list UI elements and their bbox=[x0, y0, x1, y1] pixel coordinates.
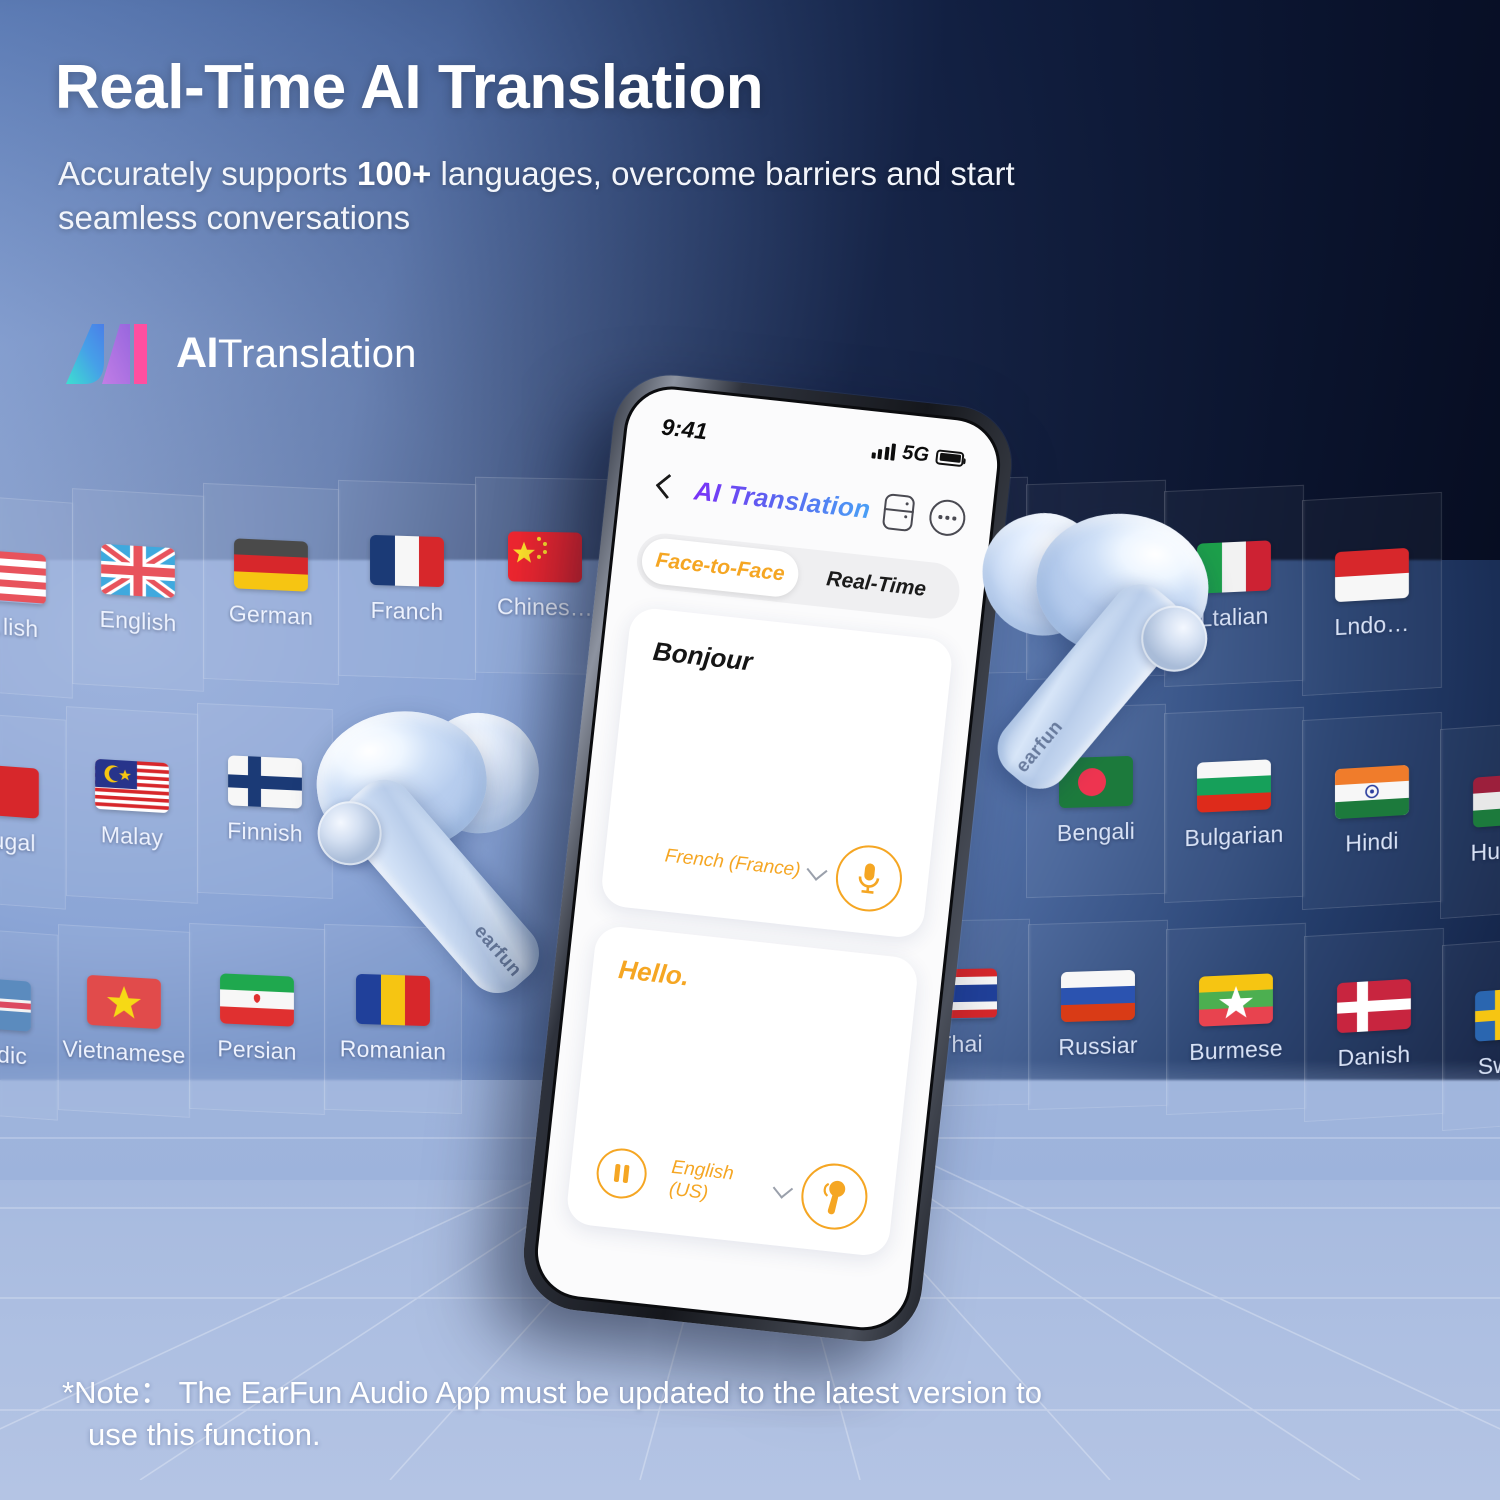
battery-full-icon bbox=[935, 449, 964, 467]
flag-tile: Burmese bbox=[1166, 923, 1306, 1115]
flag-tile: …ndic bbox=[0, 925, 58, 1120]
flag-label: Malay bbox=[101, 821, 163, 852]
translation-card-source: Bonjour French (France) bbox=[600, 606, 955, 939]
flag-label: Hindi bbox=[1345, 827, 1398, 857]
target-card-controls: English (US) bbox=[593, 1138, 871, 1233]
flag-tile: Vietnamese bbox=[58, 924, 190, 1118]
ai-translation-logo: AI Translation bbox=[64, 322, 417, 384]
chevron-down-icon bbox=[773, 1178, 793, 1198]
right-earbud-brand: earfun bbox=[1012, 716, 1068, 777]
flag-tile: Danish bbox=[1304, 928, 1444, 1122]
flag-tile: German bbox=[203, 483, 339, 685]
flag-tile: English bbox=[72, 488, 204, 692]
right-earbud: earfun bbox=[924, 490, 1256, 840]
flag-tile: Malay bbox=[66, 706, 198, 904]
ai-logo-text: AI Translation bbox=[176, 329, 417, 378]
flag-tile: Persian bbox=[189, 923, 325, 1115]
flag-label: Vietnamese bbox=[62, 1035, 185, 1069]
phone-frame: 9:41 5G AI Translation bbox=[518, 370, 1017, 1348]
flag-fr bbox=[370, 534, 444, 586]
target-language-selector[interactable]: English (US) bbox=[668, 1157, 792, 1214]
network-type-label: 5G bbox=[901, 441, 930, 467]
flag-tile: Hindi bbox=[1302, 712, 1442, 910]
flag-label: Burmese bbox=[1189, 1034, 1282, 1065]
flag-label: Franch bbox=[371, 596, 444, 625]
flag-label: Russiar bbox=[1058, 1031, 1137, 1060]
flag-label: …lish bbox=[0, 611, 38, 642]
flag-ir bbox=[220, 973, 294, 1026]
earbud-playback-button[interactable] bbox=[798, 1160, 871, 1233]
earbuds-case-icon[interactable] bbox=[882, 493, 916, 532]
footnote-line-2: use this function. bbox=[62, 1414, 1352, 1456]
flag-tile: …lish bbox=[0, 493, 73, 698]
flag-label: Lndo… bbox=[1334, 609, 1409, 640]
subtitle-before: Accurately supports bbox=[58, 155, 357, 192]
flag-mm bbox=[1199, 973, 1273, 1026]
pause-icon bbox=[614, 1164, 630, 1183]
flag-my bbox=[95, 758, 169, 812]
target-phrase: Hello. bbox=[617, 953, 891, 1016]
status-indicators: 5G bbox=[871, 438, 965, 471]
ai-logo-mark-icon bbox=[64, 322, 156, 384]
flag-tile: Swe… bbox=[1442, 935, 1500, 1131]
spacer bbox=[631, 853, 653, 855]
flag-label: …ugal bbox=[0, 825, 36, 857]
ai-logo-ai-text: AI bbox=[176, 329, 218, 378]
promo-banner: …lish English bbox=[0, 0, 1500, 1500]
flag-dk bbox=[1337, 978, 1411, 1032]
footnote: *Note： The EarFun Audio App must be upda… bbox=[62, 1372, 1352, 1455]
flag-label: English bbox=[100, 605, 177, 637]
flag-tile: Russiar bbox=[1028, 920, 1168, 1110]
flag-de bbox=[234, 538, 308, 591]
flag-in bbox=[1335, 764, 1409, 818]
page-subtitle: Accurately supports 100+ languages, over… bbox=[58, 152, 1148, 239]
microphone-icon bbox=[854, 860, 884, 897]
flag-hu bbox=[1473, 772, 1500, 827]
flag-label: Finnish bbox=[227, 817, 303, 847]
flag-label: German bbox=[229, 600, 313, 631]
signal-bars-icon bbox=[871, 441, 896, 460]
translation-card-target: Hello. English (US) bbox=[565, 924, 920, 1257]
earbud-icon bbox=[818, 1177, 852, 1216]
footnote-line-1: *Note： The EarFun Audio App must be upda… bbox=[62, 1375, 1042, 1410]
phone-screen: 9:41 5G AI Translation bbox=[533, 385, 1001, 1332]
flag-label: Persian bbox=[217, 1035, 296, 1066]
ai-logo-translation-text: Translation bbox=[218, 332, 417, 377]
flag-us bbox=[0, 549, 46, 604]
flag-uk bbox=[101, 543, 175, 597]
chevron-down-icon bbox=[806, 860, 827, 881]
microphone-button[interactable] bbox=[833, 842, 906, 915]
flag-tile: …ugal bbox=[0, 710, 66, 909]
flag-se bbox=[1475, 986, 1500, 1041]
flag-vn bbox=[87, 974, 161, 1028]
flag-label: Danish bbox=[1338, 1040, 1411, 1071]
flag-tile: Hung… bbox=[1440, 719, 1500, 919]
back-chevron-icon[interactable] bbox=[645, 468, 682, 505]
flag-label: …ndic bbox=[0, 1038, 27, 1070]
flag-label: Hung… bbox=[1471, 834, 1500, 867]
target-language-label: English (US) bbox=[668, 1157, 769, 1211]
source-card-controls: French (France) bbox=[628, 820, 906, 915]
flag-tile: Lndo… bbox=[1302, 492, 1442, 696]
flag-tile: Franch bbox=[338, 480, 476, 680]
flag-ru bbox=[1061, 969, 1135, 1021]
source-language-label: French (France) bbox=[664, 845, 802, 882]
status-time: 9:41 bbox=[660, 413, 709, 445]
flag-pt bbox=[0, 763, 39, 818]
flag-is bbox=[0, 976, 31, 1031]
source-language-selector[interactable]: French (France) bbox=[664, 845, 826, 884]
translation-cards: Bonjour French (France) bbox=[533, 584, 980, 1332]
subtitle-highlight: 100+ bbox=[357, 155, 431, 192]
pause-button[interactable] bbox=[594, 1146, 649, 1201]
app-title: AI Translation bbox=[689, 475, 875, 526]
page-title: Real-Time AI Translation bbox=[55, 52, 1205, 123]
flag-id bbox=[1335, 547, 1409, 601]
phone-bezel: 9:41 5G AI Translation bbox=[530, 382, 1005, 1335]
source-phrase: Bonjour bbox=[651, 635, 925, 698]
flag-label: Swe… bbox=[1478, 1048, 1500, 1080]
